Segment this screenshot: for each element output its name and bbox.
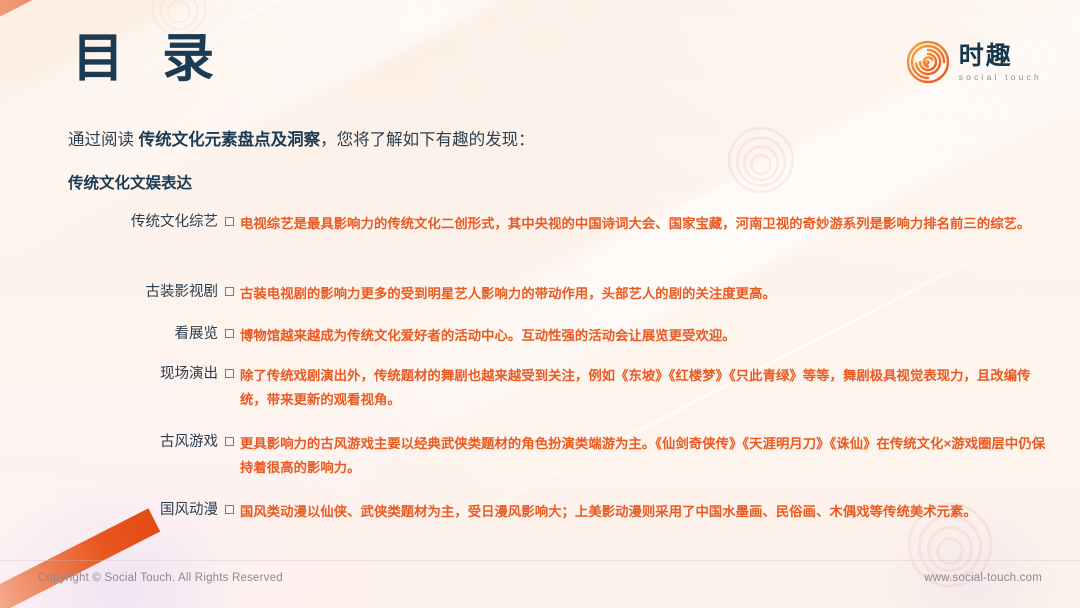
list-item[interactable]: 传统文化综艺 电视综艺是最具影响力的传统文化二创形式，其中央视的中国诗词大会、国… <box>0 212 1080 236</box>
list-item[interactable]: 古风游戏 更具影响力的古风游戏主要以经典武侠类题材的角色扮演类端游为主。《仙剑奇… <box>0 432 1080 480</box>
presentation-slide: 目 录 <box>0 0 1080 608</box>
intro-suffix: ，您将了解如下有趣的发现： <box>320 131 535 149</box>
intro-prefix: 通过阅读 <box>68 131 139 149</box>
list-item-label: 古装影视剧 <box>0 282 218 302</box>
page-title: 目 录 <box>72 33 224 85</box>
list-item-label: 传统文化综艺 <box>0 212 218 232</box>
hollow-square-bullet-icon <box>218 364 240 384</box>
footer-divider <box>0 560 1080 561</box>
hollow-square-bullet-icon <box>218 212 240 232</box>
footer-copyright: Copyright © Social Touch. All Rights Res… <box>38 572 283 584</box>
brand-logo: 时趣 social touch <box>906 40 1042 84</box>
spiral-logo-icon <box>906 40 950 84</box>
list-item[interactable]: 古装影视剧 古装电视剧的影响力更多的受到明星艺人影响力的带动作用，头部艺人的剧的… <box>0 282 1080 306</box>
list-item-label: 国风动漫 <box>0 500 218 520</box>
list-item-label: 看展览 <box>0 324 218 344</box>
list-item-text: 除了传统戏剧演出外，传统题材的舞剧也越来越受到关注，例如《东坡》《红楼梦》《只此… <box>240 364 1080 412</box>
hollow-square-bullet-icon <box>218 432 240 452</box>
footer-website[interactable]: www.social-touch.com <box>924 572 1042 584</box>
list-item-text: 电视综艺是最具影响力的传统文化二创形式，其中央视的中国诗词大会、国家宝藏，河南卫… <box>240 212 1080 236</box>
list-item[interactable]: 看展览 博物馆越来越成为传统文化爱好者的活动中心。互动性强的活动会让展览更受欢迎… <box>0 324 1080 348</box>
section-heading: 传统文化文娱表达 <box>68 171 192 193</box>
list-item-text: 博物馆越来越成为传统文化爱好者的活动中心。互动性强的活动会让展览更受欢迎。 <box>240 324 1080 348</box>
hollow-square-bullet-icon <box>218 500 240 520</box>
brand-name-cn: 时趣 <box>959 43 1013 68</box>
list-item-label: 现场演出 <box>0 364 218 384</box>
brand-wordmark: 时趣 social touch <box>959 43 1042 82</box>
brand-name-en: social touch <box>959 72 1042 82</box>
list-item-text: 古装电视剧的影响力更多的受到明星艺人影响力的带动作用，头部艺人的剧的关注度更高。 <box>240 282 1080 306</box>
list-item[interactable]: 国风动漫 国风类动漫以仙侠、武侠类题材为主，受日漫风影响大；上美影动漫则采用了中… <box>0 500 1080 524</box>
list-item-text: 更具影响力的古风游戏主要以经典武侠类题材的角色扮演类端游为主。《仙剑奇侠传》《天… <box>240 432 1080 480</box>
intro-highlight: 传统文化元素盘点及洞察 <box>139 131 321 149</box>
list-item-text: 国风类动漫以仙侠、武侠类题材为主，受日漫风影响大；上美影动漫则采用了中国水墨画、… <box>240 500 1080 524</box>
hollow-square-bullet-icon <box>218 324 240 344</box>
list-item-label: 古风游戏 <box>0 432 218 452</box>
intro-line: 通过阅读 传统文化元素盘点及洞察，您将了解如下有趣的发现： <box>68 126 535 150</box>
hollow-square-bullet-icon <box>218 282 240 302</box>
list-item[interactable]: 现场演出 除了传统戏剧演出外，传统题材的舞剧也越来越受到关注，例如《东坡》《红楼… <box>0 364 1080 412</box>
